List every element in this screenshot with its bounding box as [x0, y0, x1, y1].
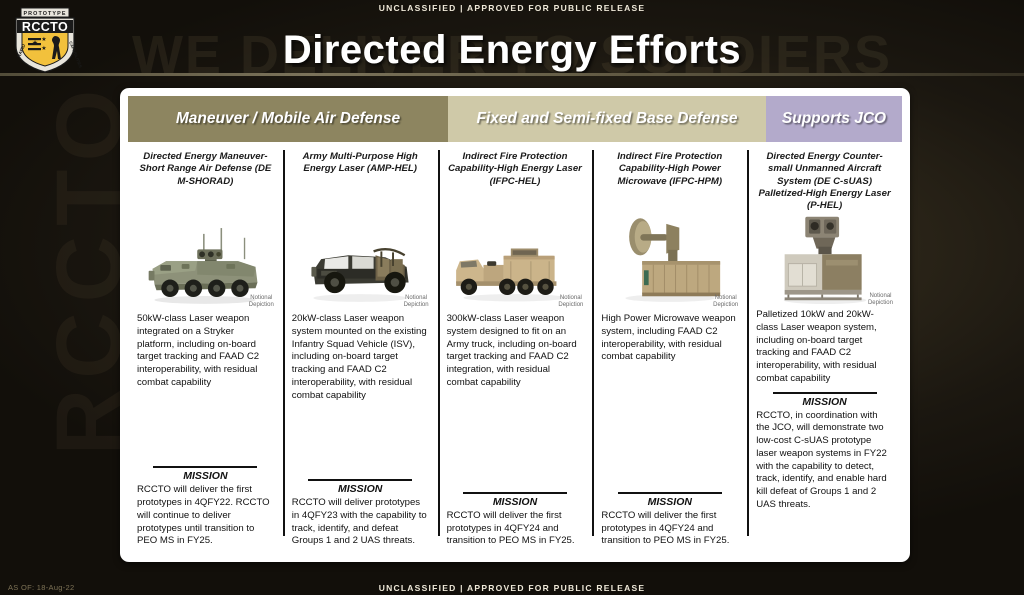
- column-title: Indirect Fire Protection Capability-High…: [601, 151, 738, 197]
- header-band: WE DELIVER TO SOLDIERS Directed Energy E…: [0, 10, 1024, 72]
- notional-depiction-caption: Notional Depiction: [404, 295, 429, 309]
- microwave-dish-container-image: [605, 215, 735, 307]
- slide: UNCLASSIFIED | APPROVED FOR PUBLIC RELEA…: [0, 0, 1024, 595]
- notional-depiction-caption: Notional Depiction: [249, 295, 274, 309]
- mission-heading: MISSION: [137, 470, 274, 482]
- column-body-text: High Power Microwave weapon system, incl…: [601, 313, 738, 364]
- column-image: Notional Depiction: [601, 199, 738, 307]
- band-maneuver: Maneuver / Mobile Air Defense: [128, 96, 448, 142]
- column-body-text: 300kW-class Laser weapon system designed…: [447, 313, 584, 390]
- mission-divider: [618, 492, 722, 494]
- stryker-vehicle-image: [137, 221, 273, 307]
- column-title: Directed Energy Counter-small Unmanned A…: [756, 151, 893, 213]
- page-title: Directed Energy Efforts: [0, 28, 1024, 73]
- mission-text: RCCTO will deliver prototypes in 4QFY23 …: [292, 497, 429, 548]
- notional-depiction-caption: Notional Depiction: [713, 295, 738, 309]
- band-fixed-base: Fixed and Semi-fixed Base Defense: [448, 96, 766, 142]
- column-image: Notional Depiction: [756, 215, 893, 305]
- band-supports-jco: Supports JCO: [766, 96, 902, 142]
- column-image: Notional Depiction: [447, 199, 584, 307]
- mission-block: MISSION RCCTO will deliver the first pro…: [447, 492, 584, 554]
- mission-heading: MISSION: [601, 496, 738, 508]
- column-body-text: 50kW-class Laser weapon integrated on a …: [137, 313, 274, 390]
- svg-text:★: ★: [32, 39, 38, 47]
- mission-divider: [773, 392, 877, 394]
- mission-block: MISSION RCCTO, in coordination with the …: [756, 392, 893, 518]
- mission-text: RCCTO, in coordination with the JCO, wil…: [756, 410, 893, 512]
- mission-heading: MISSION: [756, 396, 893, 408]
- classification-banner-bottom: UNCLASSIFIED | APPROVED FOR PUBLIC RELEA…: [0, 583, 1024, 593]
- notional-depiction-caption: Notional Depiction: [558, 295, 583, 309]
- mission-text: RCCTO will deliver the first prototypes …: [601, 510, 738, 548]
- column-title: Indirect Fire Protection Capability-High…: [447, 151, 584, 197]
- mission-text: RCCTO will deliver the first prototypes …: [447, 510, 584, 548]
- header-divider: [0, 73, 1024, 76]
- mission-text: RCCTO will deliver the first prototypes …: [137, 484, 274, 548]
- column-ifpc-hpm: Indirect Fire Protection Capability-High…: [592, 148, 747, 554]
- column-image: Notional Depiction: [137, 199, 274, 307]
- mission-divider: [463, 492, 567, 494]
- mission-block: MISSION RCCTO will deliver the first pro…: [601, 492, 738, 554]
- svg-text:★: ★: [41, 36, 46, 43]
- mission-divider: [308, 479, 412, 481]
- column-body-text: 20kW-class Laser weapon system mounted o…: [292, 313, 429, 402]
- column-body-text: Palletized 10kW and 20kW-class Laser wea…: [756, 309, 893, 386]
- svg-text:RCCTO: RCCTO: [22, 20, 68, 34]
- mission-heading: MISSION: [292, 483, 429, 495]
- column-title: Directed Energy Maneuver-Short Range Air…: [137, 151, 274, 197]
- hemtt-laser-truck-image: [447, 221, 584, 307]
- svg-text:PROTOTYPE: PROTOTYPE: [23, 11, 66, 17]
- column-de-csuas-phel: Directed Energy Counter-small Unmanned A…: [747, 148, 902, 554]
- mission-block: MISSION RCCTO will deliver the first pro…: [137, 466, 274, 554]
- palletized-laser-image: [764, 211, 886, 305]
- column-image: Notional Depiction: [292, 199, 429, 307]
- mission-divider: [153, 466, 257, 468]
- mission-block: MISSION RCCTO will deliver prototypes in…: [292, 479, 429, 554]
- infantry-squad-vehicle-image: [292, 221, 428, 307]
- column-amp-hel: Army Multi-Purpose High Energy Laser (AM…: [283, 148, 438, 554]
- column-de-m-shorad: Directed Energy Maneuver-Short Range Air…: [128, 148, 283, 554]
- notional-depiction-caption: Notional Depiction: [868, 293, 893, 307]
- svg-text:★: ★: [41, 45, 46, 52]
- columns-container: Directed Energy Maneuver-Short Range Air…: [128, 148, 902, 554]
- column-title: Army Multi-Purpose High Energy Laser (AM…: [292, 151, 429, 197]
- rccto-logo: PROTOTYPE RCCTO ★ ★ ★ RAPID CAPABILITIES: [8, 6, 82, 74]
- category-band-row: Maneuver / Mobile Air Defense Fixed and …: [128, 96, 902, 142]
- column-ifpc-hel: Indirect Fire Protection Capability-High…: [438, 148, 593, 554]
- content-card: Maneuver / Mobile Air Defense Fixed and …: [120, 88, 910, 562]
- mission-heading: MISSION: [447, 496, 584, 508]
